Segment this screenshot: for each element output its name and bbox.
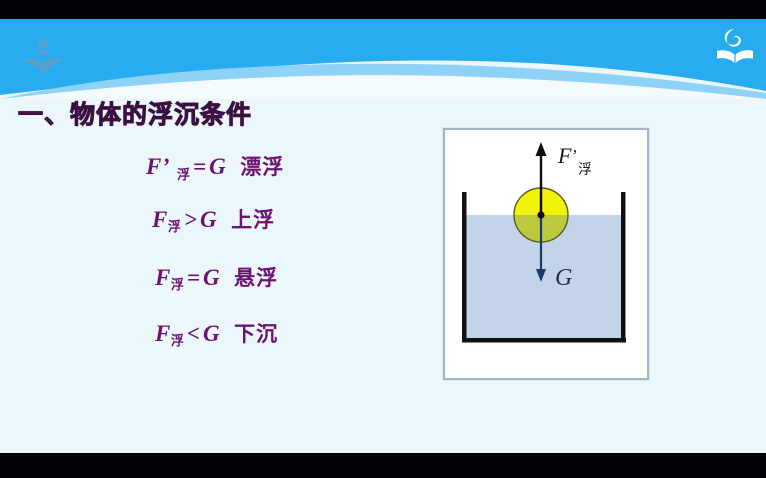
formula-subscript: 浮 (171, 278, 184, 293)
formula-operator: = (190, 154, 209, 179)
container-wall-right (621, 192, 626, 342)
formula-operator: > (181, 207, 200, 232)
formula-label: 上浮 (217, 208, 275, 232)
formula-subscript: 浮 (168, 220, 181, 235)
formula-label: 漂浮 (226, 155, 284, 179)
center-of-mass-dot (537, 211, 544, 218)
formula-force: F (155, 321, 171, 346)
floating-ball-diagram: F ’ 浮 G (443, 128, 649, 380)
container-bottom (462, 338, 626, 343)
buoyancy-subscript: 浮 (578, 162, 592, 178)
formula-prime: ’ (162, 154, 170, 179)
formula-force: F (152, 207, 168, 232)
letterbox-bottom (0, 453, 766, 478)
buoyancy-label: F (557, 143, 572, 168)
slide-canvas: 一、物体的浮沉条件 F’浮=G漂浮 F浮>G上浮 F浮=G悬浮 F浮<G下沉 (0, 19, 766, 453)
watermark-book-icon (20, 33, 66, 79)
slide-root: 一、物体的浮沉条件 F’浮=G漂浮 F浮>G上浮 F浮=G悬浮 F浮<G下沉 (0, 0, 766, 478)
page-title: 一、物体的浮沉条件 (18, 95, 252, 131)
formula-weight: G (203, 321, 220, 346)
formula-force: F (155, 265, 171, 290)
brand-book-icon (713, 25, 757, 69)
buoyancy-prime: ’ (572, 146, 578, 165)
formula-weight: G (203, 265, 220, 290)
formula-force: F (146, 154, 162, 179)
formula-weight: G (200, 207, 217, 232)
formula-subscript: 浮 (170, 168, 190, 183)
gravity-label: G (555, 265, 572, 291)
container-wall-left (462, 192, 467, 342)
header-banner (0, 19, 766, 99)
formula-label: 下沉 (220, 322, 278, 346)
formula-subscript: 浮 (171, 334, 184, 349)
letterbox-top (0, 0, 766, 19)
formula-weight: G (209, 154, 226, 179)
formula-label: 悬浮 (220, 266, 278, 290)
formula-operator: = (184, 265, 203, 290)
formula-operator: < (184, 321, 203, 346)
